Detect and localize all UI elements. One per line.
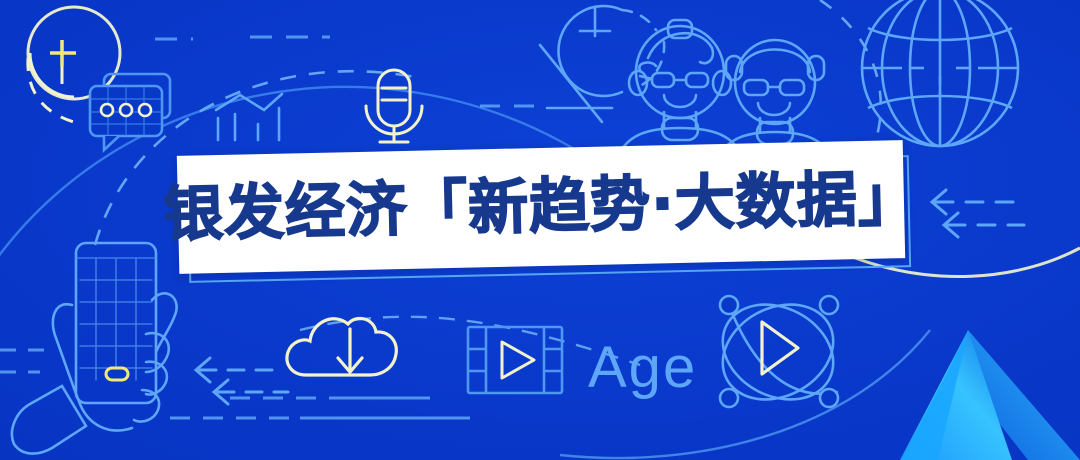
globe-icon <box>862 0 1018 146</box>
banner-graphic: Age 银发经济「新趋势·大数据」 <box>0 0 1080 460</box>
microphone-icon <box>366 70 422 142</box>
headline-title: 银发经济「新趋势·大数据」 <box>163 169 920 245</box>
film-play-icon <box>468 327 562 393</box>
cloud-download-icon <box>287 318 396 375</box>
clock-icon <box>540 6 664 122</box>
atom-play-icon <box>706 286 850 418</box>
chevron-logo-icon <box>900 330 1080 460</box>
hand-phone-icon <box>12 243 177 454</box>
age-watermark-text: Age <box>588 339 697 397</box>
dashed-arrow-left-icon <box>932 190 1024 237</box>
bar-line-chart-icon <box>216 94 282 140</box>
chat-bubble-dots-icon <box>90 74 170 150</box>
headline-banner: 银发经济「新趋势·大数据」 <box>177 140 905 274</box>
